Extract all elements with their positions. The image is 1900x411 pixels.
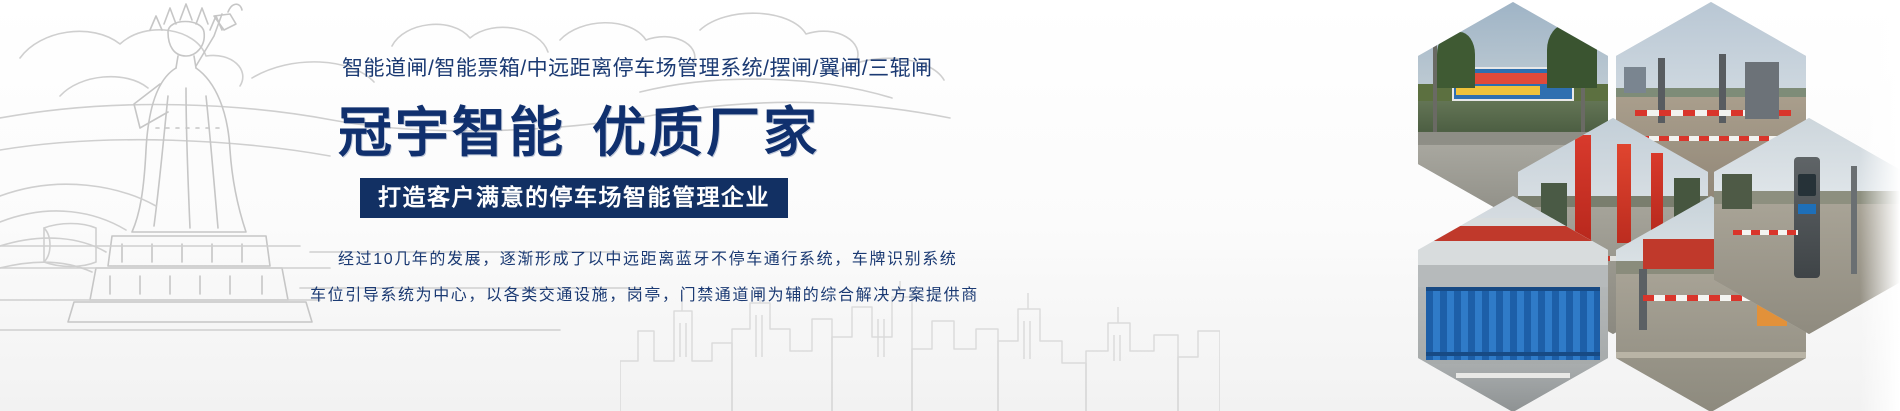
banner-headline: 冠宇智能优质厂家: [338, 88, 820, 167]
body-line-1: 经过10几年的发展，逐渐形成了以中远距离蓝牙不停车通行系统，车牌识别系统: [300, 242, 940, 278]
body-line-2: 车位引导系统为中心，以各类交通设施，岗亭，门禁通道闸为辅的综合解决方案提供商: [300, 278, 940, 314]
hero-banner: 智能道闸/智能票箱/中远距离停车场管理系统/摆闸/翼闸/三辊闸 冠宇智能优质厂家…: [0, 0, 1900, 411]
headline-sub: 优质厂家: [592, 103, 820, 163]
hexagon-photo-collage: [1180, 0, 1900, 411]
headline-main: 冠宇智能: [338, 103, 566, 163]
banner-eyebrow: 智能道闸/智能票箱/中远距离停车场管理系统/摆闸/翼闸/三辊闸: [342, 52, 933, 82]
banner-body-copy: 经过10几年的发展，逐渐形成了以中远距离蓝牙不停车通行系统，车牌识别系统 车位引…: [300, 242, 940, 314]
hero-text-block: 智能道闸/智能票箱/中远距离停车场管理系统/摆闸/翼闸/三辊闸 冠宇智能优质厂家…: [300, 0, 980, 411]
banner-ribbon: 打造客户满意的停车场智能管理企业: [360, 178, 788, 218]
